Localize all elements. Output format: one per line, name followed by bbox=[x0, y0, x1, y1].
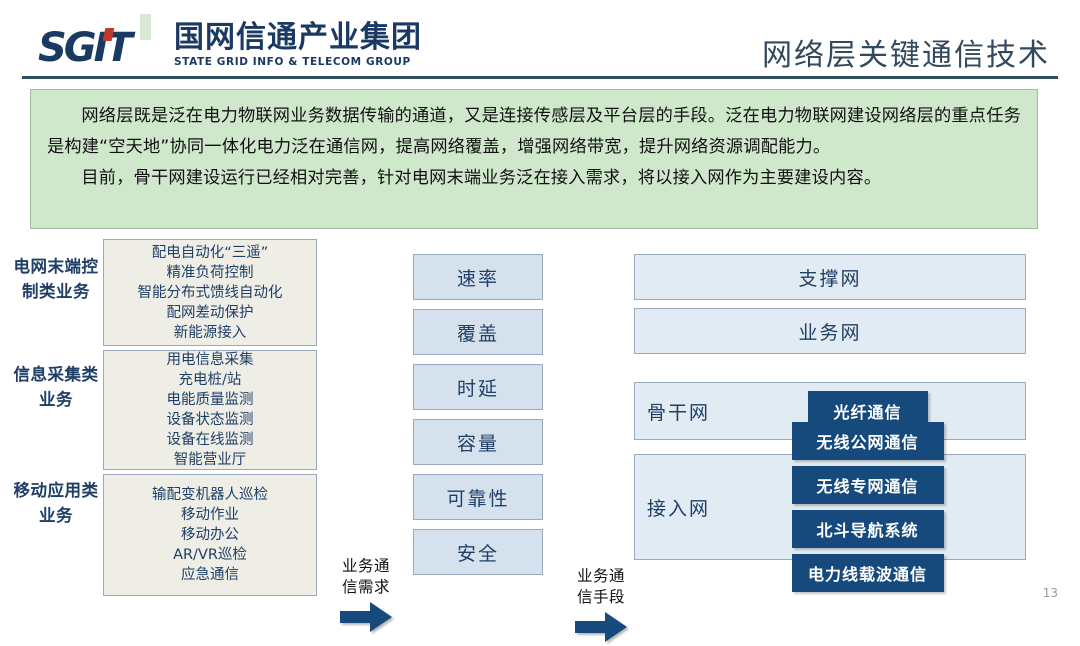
network-panel-access: 接入网 无线公网通信 无线专网通信 北斗导航系统 电力线载波通信 bbox=[634, 454, 1026, 560]
network-panel-service-label: 业务网 bbox=[635, 309, 1025, 353]
network-panel-support-label: 支撑网 bbox=[635, 255, 1025, 299]
summary-callout: 网络层既是泛在电力物联网业务数据传输的通道，又是连接传感层及平台层的手段。泛在电… bbox=[30, 89, 1038, 229]
requirement-box-latency: 时延 bbox=[413, 364, 543, 410]
page-header: SGIT 国网信通产业集团 STATE GRID INFO & TELECOM … bbox=[0, 0, 1080, 84]
network-panel-access-label: 接入网 bbox=[647, 494, 710, 521]
tech-tag-wireless-private-network[interactable]: 无线专网通信 bbox=[792, 466, 944, 504]
page-number: 13 bbox=[1043, 586, 1058, 600]
list-item: 智能营业厅 bbox=[174, 450, 247, 470]
list-item: 充电桩/站 bbox=[179, 370, 242, 390]
service-list-grid-terminal-control: 配电自动化“三遥” 精准负荷控制 智能分布式馈线自动化 配网差动保护 新能源接入 bbox=[103, 239, 317, 346]
right-arrow-icon bbox=[340, 602, 392, 632]
flow-arrow-requirements: 业务通信需求 bbox=[337, 556, 395, 636]
list-item: 精准负荷控制 bbox=[167, 263, 254, 283]
header-divider bbox=[22, 76, 1058, 79]
category-label-mobile-application: 移动应用类业务 bbox=[12, 478, 100, 528]
flow-arrow-requirements-label: 业务通信需求 bbox=[337, 556, 395, 598]
right-arrow-icon bbox=[575, 612, 627, 642]
summary-paragraph-1: 网络层既是泛在电力物联网业务数据传输的通道，又是连接传感层及平台层的手段。泛在电… bbox=[47, 101, 1021, 163]
service-list-information-collection: 用电信息采集 充电桩/站 电能质量监测 设备状态监测 设备在线监测 智能营业厅 bbox=[103, 350, 317, 470]
list-item: 移动办公 bbox=[181, 525, 239, 545]
list-item: 输配变机器人巡检 bbox=[152, 485, 268, 505]
summary-paragraph-2: 目前，骨干网建设运行已经相对完善，针对电网末端业务泛在接入需求，将以接入网作为主… bbox=[47, 163, 1021, 194]
network-panel-backbone-label: 骨干网 bbox=[647, 398, 710, 425]
list-item: AR/VR巡检 bbox=[173, 545, 247, 565]
brand-logo: SGIT 国网信通产业集团 STATE GRID INFO & TELECOM … bbox=[38, 22, 422, 70]
service-list-mobile-application: 输配变机器人巡检 移动作业 移动办公 AR/VR巡检 应急通信 bbox=[103, 474, 317, 596]
sgit-logomark-icon: SGIT bbox=[38, 26, 160, 70]
category-label-grid-terminal-control: 电网末端控制类业务 bbox=[12, 254, 100, 304]
network-panel-support: 支撑网 bbox=[634, 254, 1026, 300]
tech-tag-beidou-navigation[interactable]: 北斗导航系统 bbox=[792, 510, 944, 548]
network-panel-service: 业务网 bbox=[634, 308, 1026, 354]
flow-arrow-means-label: 业务通信手段 bbox=[572, 566, 630, 608]
list-item: 新能源接入 bbox=[174, 323, 247, 343]
list-item: 用电信息采集 bbox=[167, 350, 254, 370]
list-item: 配电自动化“三遥” bbox=[152, 243, 269, 263]
requirement-box-security: 安全 bbox=[413, 529, 543, 575]
list-item: 应急通信 bbox=[181, 565, 239, 585]
tech-tag-power-line-carrier[interactable]: 电力线载波通信 bbox=[792, 554, 944, 592]
flow-arrow-means: 业务通信手段 bbox=[572, 566, 630, 646]
page-title: 网络层关键通信技术 bbox=[762, 30, 1050, 74]
network-layer-diagram: 电网末端控制类业务 信息采集类业务 移动应用类业务 配电自动化“三遥” 精准负荷… bbox=[0, 236, 1080, 601]
brand-name-cn: 国网信通产业集团 bbox=[174, 22, 422, 54]
category-label-information-collection: 信息采集类业务 bbox=[12, 362, 100, 412]
logo-green-accent-icon bbox=[140, 14, 151, 40]
tech-tag-wireless-public-network[interactable]: 无线公网通信 bbox=[792, 422, 944, 460]
list-item: 设备状态监测 bbox=[167, 410, 254, 430]
requirement-box-capacity: 容量 bbox=[413, 419, 543, 465]
requirement-box-speed: 速率 bbox=[413, 254, 543, 300]
requirement-box-reliability: 可靠性 bbox=[413, 474, 543, 520]
requirement-box-coverage: 覆盖 bbox=[413, 309, 543, 355]
brand-name-en: STATE GRID INFO & TELECOM GROUP bbox=[174, 55, 422, 69]
brand-text: 国网信通产业集团 STATE GRID INFO & TELECOM GROUP bbox=[174, 22, 422, 70]
list-item: 移动作业 bbox=[181, 505, 239, 525]
list-item: 设备在线监测 bbox=[167, 430, 254, 450]
list-item: 电能质量监测 bbox=[167, 390, 254, 410]
access-technology-tags: 无线公网通信 无线专网通信 北斗导航系统 电力线载波通信 bbox=[710, 422, 1025, 592]
list-item: 配网差动保护 bbox=[167, 303, 254, 323]
list-item: 智能分布式馈线自动化 bbox=[138, 283, 283, 303]
